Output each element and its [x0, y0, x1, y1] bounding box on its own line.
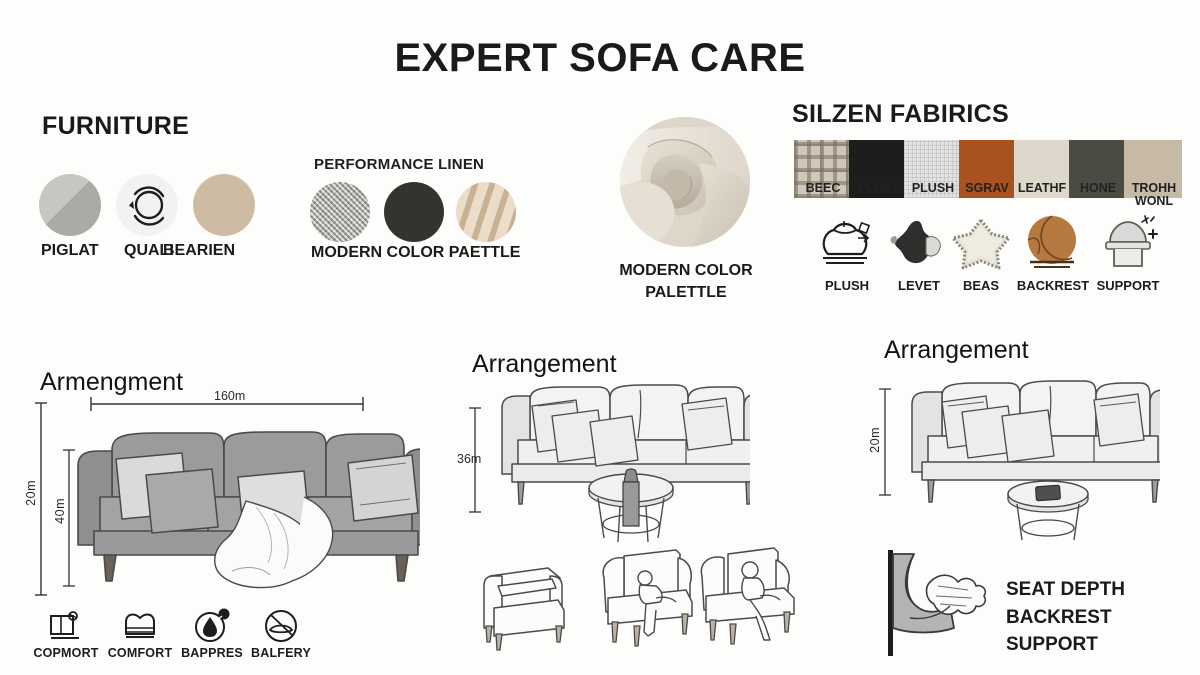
seat-depth-illustration	[880, 548, 1006, 665]
panel-right-dim: 20m	[868, 427, 882, 453]
bottom-icon-label-bappres: BAPPRES	[174, 646, 250, 660]
furniture-label-bearien: BEARIEN	[163, 242, 235, 260]
rotate-icon	[116, 174, 178, 236]
bottom-icon-label-comfort: COMFORT	[101, 646, 179, 660]
leather-swatch-icon[interactable]	[886, 216, 950, 270]
page-title: EXPERT SOFA CARE	[0, 36, 1200, 81]
silzen-icon-label-backrest: BACKREST	[1010, 278, 1096, 293]
performance-heading: PERFORMANCE LINEN	[314, 156, 484, 173]
silzen-icon-label-support: SUPPORT	[1086, 278, 1170, 293]
measure-plant-icon[interactable]	[45, 608, 87, 644]
performance-caption: MODERN COLOR PAETTLE	[311, 244, 520, 262]
fabric-roll-caption-line1: MODERN COLOR	[610, 260, 762, 282]
armchair-plain	[472, 546, 582, 663]
no-iron-icon[interactable]	[260, 606, 302, 644]
swatch-tan[interactable]	[193, 174, 255, 236]
seat-depth-text: SEAT DEPTH BACKREST SUPPORT	[1006, 576, 1125, 659]
coffee-table-right	[998, 476, 1098, 551]
infographic-canvas: EXPERT SOFA CARE FURNITURE PIGLAT QUALI …	[0, 0, 1200, 675]
bottom-icon-label-copmort: COPMORT	[28, 646, 104, 660]
swatch-weave-gray[interactable]	[310, 182, 370, 242]
sofa-illustration-left	[60, 405, 420, 600]
armchair-with-person-2	[690, 540, 806, 665]
panel-mid-dim: 36m	[457, 452, 481, 466]
fabric-roll-photo	[620, 117, 750, 247]
panel-right-heading: Arrangement	[884, 336, 1029, 365]
fabric-roll-caption: MODERN COLOR PALETTLE	[610, 260, 762, 303]
silzen-icon-label-beas: BEAS	[948, 278, 1014, 293]
silzen-icon-label-plush: PLUSH	[812, 278, 882, 293]
coffee-table-mid	[578, 468, 684, 551]
seat-depth-line-3: SUPPORT	[1006, 631, 1125, 659]
backrest-round-icon[interactable]	[1022, 214, 1082, 270]
silzen-icon-label-levet: LEVET	[884, 278, 954, 293]
support-cushion-icon[interactable]	[1096, 212, 1160, 270]
fabric-roll-caption-line2: PALETTLE	[610, 282, 762, 304]
layered-cushion-icon[interactable]	[120, 608, 160, 644]
swatch-rotate-icon[interactable]	[116, 174, 178, 236]
star-fabric-icon[interactable]	[950, 216, 1012, 270]
panel-mid-heading: Arrangement	[472, 350, 617, 379]
silzen-heading: SILZEN FABIRICS	[792, 100, 1009, 129]
fabric-label-leathf: LEATHF	[1010, 182, 1074, 195]
bottom-icon-label-balfery: BALFERY	[243, 646, 319, 660]
stain-repel-icon[interactable]	[191, 606, 233, 644]
rolled-fabric-illustration	[620, 117, 750, 247]
panel-left-dim-width: 160m	[214, 389, 245, 403]
seat-depth-line-2: BACKREST	[1006, 604, 1125, 632]
fabric-label-trohh-wonl: TROHH WONL	[1119, 182, 1189, 208]
swatch-gray-gradient[interactable]	[39, 174, 101, 236]
furniture-heading: FURNITURE	[42, 112, 189, 141]
swatch-charcoal[interactable]	[384, 182, 444, 242]
seat-depth-line-1: SEAT DEPTH	[1006, 576, 1125, 604]
plush-cushion-icon[interactable]	[814, 218, 880, 270]
swatch-wood[interactable]	[456, 182, 516, 242]
furniture-label-piglat: PIGLAT	[41, 242, 98, 260]
panel-left-dim-outer: 20m	[24, 480, 38, 506]
armchair-with-person-1	[590, 540, 706, 665]
